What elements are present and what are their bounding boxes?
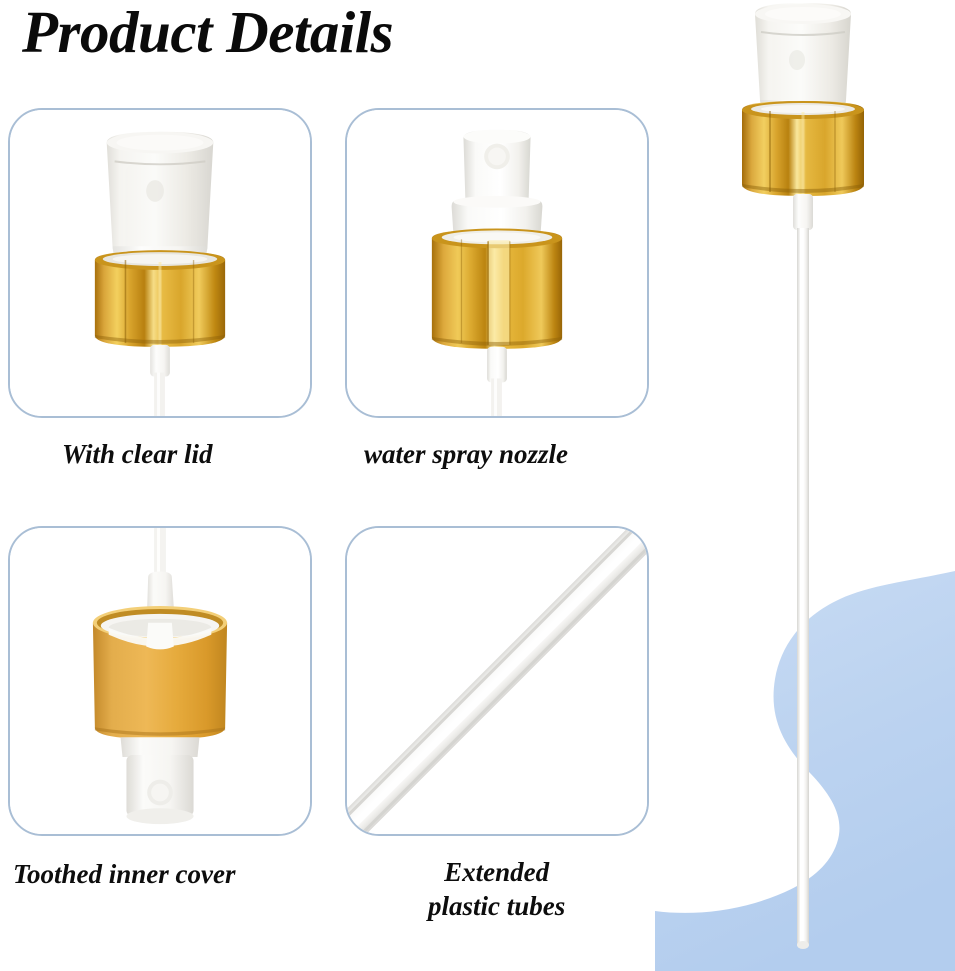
panel-water-spray-nozzle [345,108,649,418]
caption-extended-plastic-tubes: Extended plastic tubes [428,855,565,923]
caption-with-clear-lid: With clear lid [62,437,213,471]
page-title: Product Details [22,2,393,64]
panel-toothed-inner-cover [8,526,312,836]
panel-with-clear-lid [8,108,312,418]
toothed-inner-cover-photo [10,528,310,834]
caption-water-spray-nozzle: water spray nozzle [364,437,568,471]
extended-plastic-tube-photo [347,528,647,834]
spray-nozzle-photo [347,110,647,416]
caption-toothed-inner-cover: Toothed inner cover [13,857,236,891]
hero-product-image [700,0,955,960]
sprayer-with-clear-lid-photo [10,110,310,416]
full-sprayer-with-extended-tube-photo [700,0,955,960]
product-details-page: Product Details [0,0,955,971]
panel-extended-plastic-tubes [345,526,649,836]
